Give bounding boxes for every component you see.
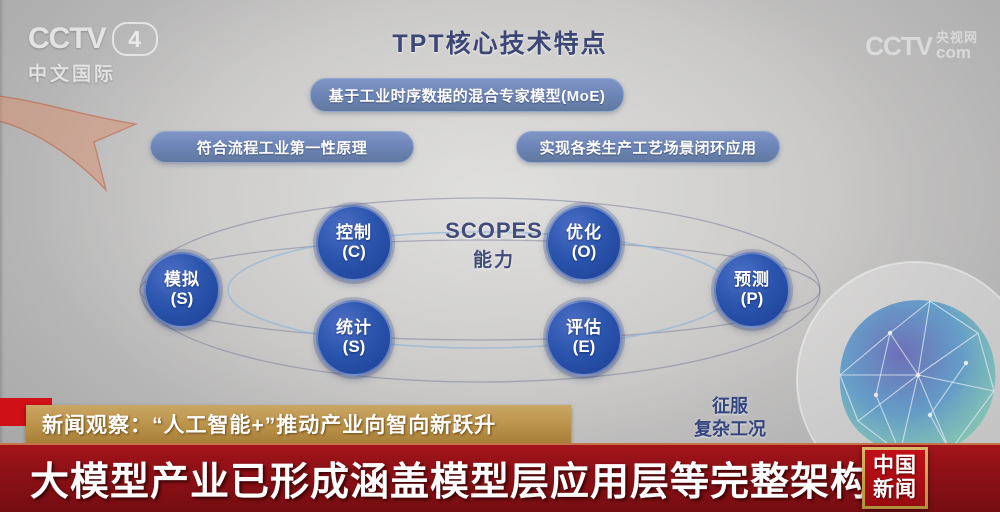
pill-first-principles: 符合流程工业第一性原理 [150, 131, 414, 163]
cctv4-channel-logo: CCTV 4 中文国际 [28, 22, 218, 84]
node-label-cn: 统计 [336, 319, 372, 337]
scopes-node-control: 控制 (C) [316, 205, 392, 281]
node-label-cn: 模拟 [164, 271, 200, 289]
scopes-node-statistics: 统计 (S) [316, 300, 392, 376]
program-badge: 中国 新闻 [862, 447, 928, 509]
program-badge-inner: 中国 新闻 [865, 450, 925, 506]
program-badge-line1: 中国 [873, 454, 917, 478]
cctv-watermark-cn-block: 央视网 com [936, 31, 978, 61]
lower-third-headline: 大模型产业已形成涵盖模型层应用层等完整架构 [30, 450, 860, 508]
lower-third-gold-edge [0, 443, 1000, 445]
program-badge-line2: 新闻 [873, 478, 917, 502]
cctv-watermark-domain: com [936, 44, 978, 61]
cctv4-logo-row: CCTV 4 [28, 22, 218, 56]
node-label-abbr: (S) [343, 337, 366, 357]
channel-subtitle: 中文国际 [28, 59, 218, 86]
node-label-abbr: (P) [741, 289, 764, 309]
pill-closed-loop-application: 实现各类生产工艺场景闭环应用 [516, 131, 780, 163]
node-label-cn: 评估 [566, 319, 602, 337]
node-label-cn: 预测 [734, 271, 770, 289]
cctv-watermark-mark: CCTV [865, 31, 932, 62]
node-label-abbr: (C) [342, 242, 366, 262]
scopes-node-prediction: 预测 (P) [714, 252, 790, 328]
scopes-node-evaluation: 评估 (E) [546, 300, 622, 376]
slide-side-text-line2: 复杂工况 [655, 418, 805, 441]
scopes-center-label: SCOPES 能力 [404, 218, 584, 272]
cctv-wordmark: CCTV [28, 22, 106, 56]
node-label-cn: 控制 [336, 224, 372, 242]
broadcast-screen: TPT核心技术特点 基于工业时序数据的混合专家模型(MoE) 符合流程工业第一性… [0, 0, 1000, 512]
cctv-com-watermark: CCTV 央视网 com [798, 24, 978, 68]
wall-seam [0, 0, 4, 460]
scopes-center-line2: 能力 [404, 245, 584, 272]
channel-number: 4 [112, 22, 158, 56]
node-label-abbr: (E) [573, 337, 596, 357]
lower-third-subbar-text: 新闻观察：“人工智能+”推动产业向智向新跃升 [42, 409, 496, 439]
slide-side-text: 征服 复杂工况 [655, 395, 805, 440]
lower-third-subbar: 新闻观察：“人工智能+”推动产业向智向新跃升 [26, 405, 571, 443]
scopes-node-simulation: 模拟 (S) [144, 252, 220, 328]
pill-moe-model: 基于工业时序数据的混合专家模型(MoE) [310, 78, 624, 112]
node-label-abbr: (S) [171, 289, 194, 309]
slide-side-text-line1: 征服 [712, 396, 748, 416]
scopes-center-line1: SCOPES [404, 218, 584, 244]
